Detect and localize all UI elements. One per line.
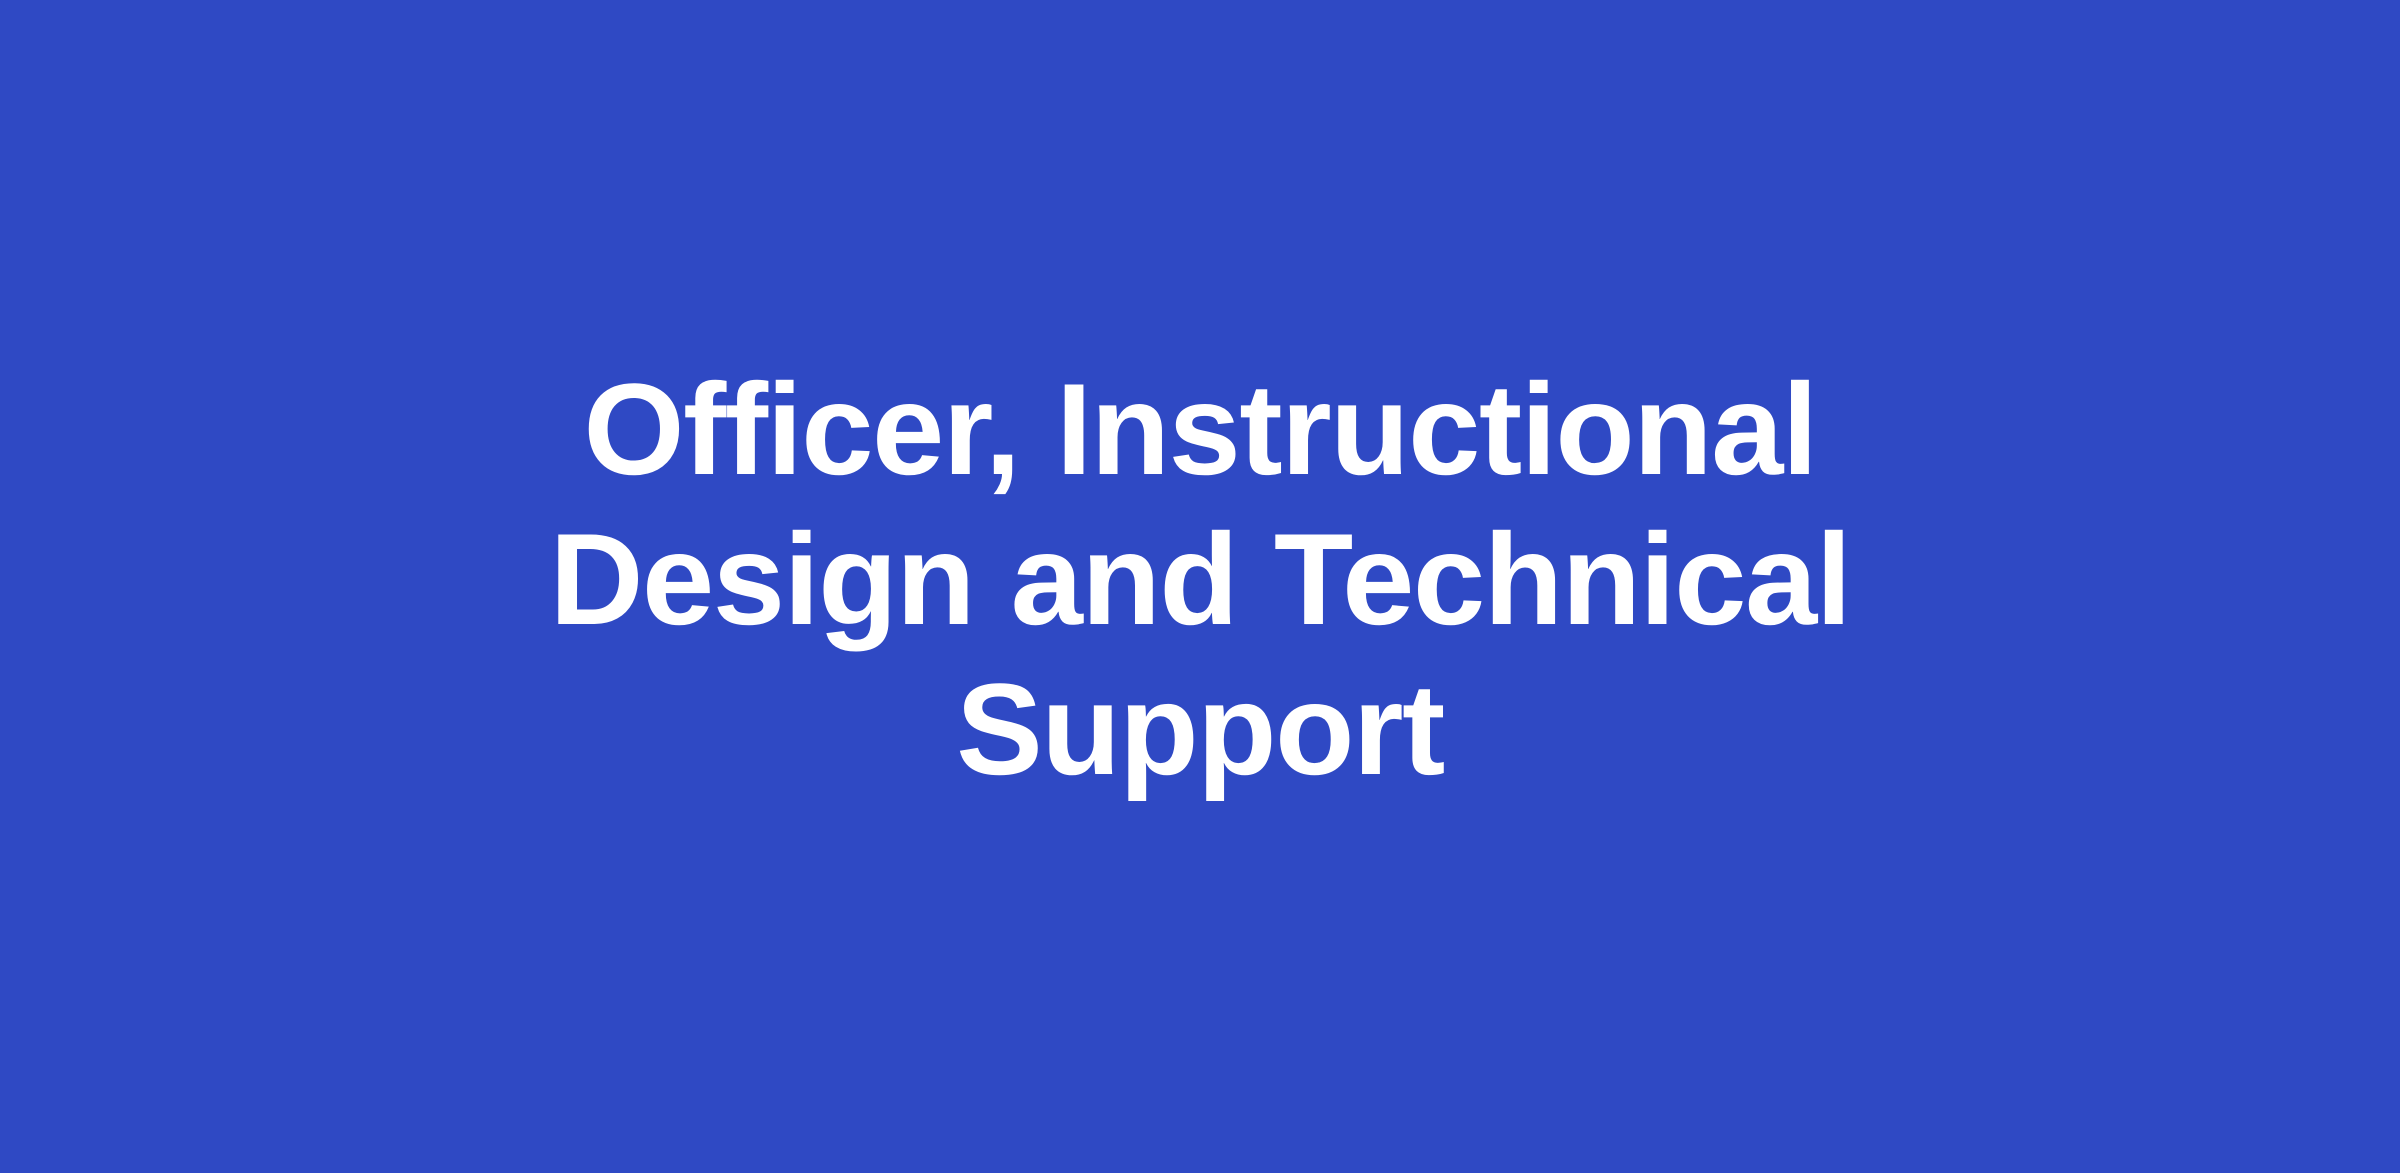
hero-banner: Officer, Instructional Design and Techni… (0, 0, 2400, 1173)
hero-banner-content: Officer, Instructional Design and Techni… (360, 354, 2040, 804)
page-title: Officer, Instructional Design and Techni… (360, 354, 2040, 804)
